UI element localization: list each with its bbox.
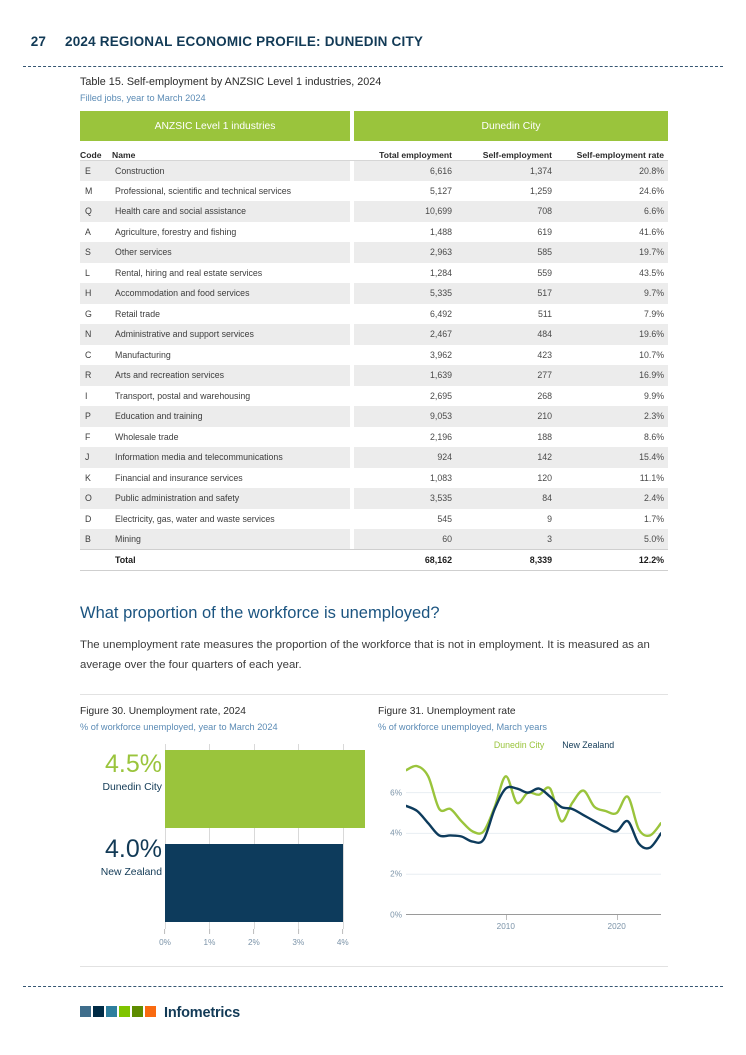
page-title: 2024 REGIONAL ECONOMIC PROFILE: DUNEDIN … bbox=[65, 34, 423, 49]
table-row: JInformation media and telecommunication… bbox=[80, 447, 668, 468]
logo-square-2 bbox=[93, 1006, 104, 1017]
cell-code: K bbox=[80, 468, 112, 489]
cell-name: Information media and telecommunications bbox=[112, 447, 350, 468]
cell-total-employment: 1,284 bbox=[354, 263, 456, 284]
cell-self-employment-rate: 9.7% bbox=[556, 283, 668, 304]
bar-value-dunedin: 4.5% bbox=[80, 752, 162, 777]
logo-square-4 bbox=[119, 1006, 130, 1017]
cell-self-employment: 559 bbox=[456, 263, 556, 284]
cell-name: Public administration and safety bbox=[112, 488, 350, 509]
cell-total-employment: 924 bbox=[354, 447, 456, 468]
table-row: MProfessional, scientific and technical … bbox=[80, 181, 668, 202]
self-employment-table: ANZSIC Level 1 industries Dunedin City C… bbox=[80, 111, 668, 571]
table-row: LRental, hiring and real estate services… bbox=[80, 263, 668, 284]
figure-31-chart: Dunedin City New Zealand 0%2%4%6%2010202… bbox=[378, 740, 668, 950]
cell-code: I bbox=[80, 386, 112, 407]
bar-label-newzealand: New Zealand bbox=[80, 867, 162, 878]
cell-name: Accommodation and food services bbox=[112, 283, 350, 304]
cell-name: Professional, scientific and technical s… bbox=[112, 181, 350, 202]
bar-chart-labels: 4.5% Dunedin City 4.0% New Zealand bbox=[80, 744, 162, 878]
figure-31-subtitle: % of workforce unemployed, March years bbox=[378, 722, 668, 732]
cell-code: S bbox=[80, 242, 112, 263]
line-chart-ytick-label: 2% bbox=[378, 870, 402, 879]
cell-code: R bbox=[80, 365, 112, 386]
line-chart-ytick-label: 4% bbox=[378, 829, 402, 838]
cell-self-employment-rate: 10.7% bbox=[556, 345, 668, 366]
cell-code: F bbox=[80, 427, 112, 448]
table-row: KFinancial and insurance services1,08312… bbox=[80, 468, 668, 489]
cell-self-employment-rate: 9.9% bbox=[556, 386, 668, 407]
cell-total-employment: 2,196 bbox=[354, 427, 456, 448]
page-footer: Infometrics bbox=[80, 1004, 240, 1022]
cell-self-employment: 585 bbox=[456, 242, 556, 263]
cell-self-employment-rate: 7.9% bbox=[556, 304, 668, 325]
table-row: AAgriculture, forestry and fishing1,4886… bbox=[80, 222, 668, 243]
table-row: SOther services2,96358519.7% bbox=[80, 242, 668, 263]
line-chart-xtick bbox=[506, 915, 507, 920]
figure-31-title: Figure 31. Unemployment rate bbox=[378, 706, 668, 717]
cell-self-employment: 511 bbox=[456, 304, 556, 325]
cell-name: Administrative and support services bbox=[112, 324, 350, 345]
figure-30-chart: 4.5% Dunedin City 4.0% New Zealand 0%1%2… bbox=[80, 744, 365, 954]
cell-self-employment-rate: 8.6% bbox=[556, 427, 668, 448]
line-series-new-zealand bbox=[406, 787, 661, 849]
cell-self-employment: 423 bbox=[456, 345, 556, 366]
cell-self-employment: 142 bbox=[456, 447, 556, 468]
cell-self-employment: 619 bbox=[456, 222, 556, 243]
cell-code: J bbox=[80, 447, 112, 468]
cell-self-employment: 1,374 bbox=[456, 160, 556, 181]
bar-chart-xtick-label: 1% bbox=[204, 938, 216, 947]
cell-total-employment: 1,639 bbox=[354, 365, 456, 386]
cell-total-employment: 2,695 bbox=[354, 386, 456, 407]
cell-self-employment-rate: 2.4% bbox=[556, 488, 668, 509]
bar-chart-plot bbox=[165, 744, 365, 929]
cell-total-employment: 3,535 bbox=[354, 488, 456, 509]
header-divider bbox=[23, 66, 723, 67]
cell-code: L bbox=[80, 263, 112, 284]
cell-self-employment: 1,259 bbox=[456, 181, 556, 202]
cell-self-employment-rate: 20.8% bbox=[556, 160, 668, 181]
bar-chart-xtick: 3% bbox=[292, 929, 304, 947]
cell-self-employment-rate: 15.4% bbox=[556, 447, 668, 468]
table-row: QHealth care and social assistance10,699… bbox=[80, 201, 668, 222]
cell-self-employment-rate: 19.7% bbox=[556, 242, 668, 263]
line-chart-xtick-label: 2020 bbox=[608, 922, 626, 931]
cell-code: A bbox=[80, 222, 112, 243]
total-cell-code bbox=[80, 550, 112, 571]
cell-code: M bbox=[80, 181, 112, 202]
cell-self-employment-rate: 6.6% bbox=[556, 201, 668, 222]
cell-code: H bbox=[80, 283, 112, 304]
footer-divider bbox=[23, 986, 723, 987]
table-row: CManufacturing3,96242310.7% bbox=[80, 345, 668, 366]
infometrics-logo-icon bbox=[80, 1004, 158, 1022]
cell-name: Arts and recreation services bbox=[112, 365, 350, 386]
cell-total-employment: 5,335 bbox=[354, 283, 456, 304]
cell-self-employment: 708 bbox=[456, 201, 556, 222]
table-row: RArts and recreation services1,63927716.… bbox=[80, 365, 668, 386]
cell-self-employment-rate: 2.3% bbox=[556, 406, 668, 427]
bar-dunedin-city bbox=[165, 750, 365, 828]
cell-total-employment: 10,699 bbox=[354, 201, 456, 222]
logo-square-1 bbox=[80, 1006, 91, 1017]
table-column-header-row: Code Name Total employment Self-employme… bbox=[80, 141, 668, 160]
cell-code: Q bbox=[80, 201, 112, 222]
table-15-section: Table 15. Self-employment by ANZSIC Leve… bbox=[80, 76, 668, 571]
cell-name: Other services bbox=[112, 242, 350, 263]
bar-new-zealand bbox=[165, 844, 343, 922]
logo-square-6 bbox=[145, 1006, 156, 1017]
cell-self-employment-rate: 43.5% bbox=[556, 263, 668, 284]
figure-30: Figure 30. Unemployment rate, 2024 % of … bbox=[80, 706, 365, 954]
column-header-total-employment: Total employment bbox=[354, 141, 456, 160]
cell-self-employment: 120 bbox=[456, 468, 556, 489]
line-chart-ytick-label: 6% bbox=[378, 788, 402, 797]
cell-self-employment: 9 bbox=[456, 509, 556, 530]
table-group-header-row: ANZSIC Level 1 industries Dunedin City bbox=[80, 111, 668, 141]
bar-chart-xtick: 2% bbox=[248, 929, 260, 947]
cell-self-employment-rate: 24.6% bbox=[556, 181, 668, 202]
cell-self-employment-rate: 1.7% bbox=[556, 509, 668, 530]
table-row: PEducation and training9,0532102.3% bbox=[80, 406, 668, 427]
cell-self-employment-rate: 41.6% bbox=[556, 222, 668, 243]
figure-30-subtitle: % of workforce unemployed, year to March… bbox=[80, 722, 365, 732]
cell-total-employment: 6,492 bbox=[354, 304, 456, 325]
total-cell-total-employment: 68,162 bbox=[354, 550, 456, 571]
cell-code: B bbox=[80, 529, 112, 550]
brand-name: Infometrics bbox=[164, 1005, 240, 1021]
line-chart-svg bbox=[406, 760, 661, 915]
cell-name: Agriculture, forestry and fishing bbox=[112, 222, 350, 243]
bar-chart-xtick: 0% bbox=[159, 929, 171, 947]
cell-code: N bbox=[80, 324, 112, 345]
cell-total-employment: 2,963 bbox=[354, 242, 456, 263]
table-row: FWholesale trade2,1961888.6% bbox=[80, 427, 668, 448]
bar-chart-x-axis: 0%1%2%3%4% bbox=[165, 929, 365, 953]
table-title: Table 15. Self-employment by ANZSIC Leve… bbox=[80, 76, 668, 88]
cell-name: Retail trade bbox=[112, 304, 350, 325]
cell-self-employment-rate: 11.1% bbox=[556, 468, 668, 489]
table-row: OPublic administration and safety3,53584… bbox=[80, 488, 668, 509]
cell-name: Manufacturing bbox=[112, 345, 350, 366]
cell-code: O bbox=[80, 488, 112, 509]
page-header: 27 2024 REGIONAL ECONOMIC PROFILE: DUNED… bbox=[0, 34, 746, 49]
figure-31: Figure 31. Unemployment rate % of workfo… bbox=[378, 706, 668, 950]
legend-item-dunedin: Dunedin City bbox=[494, 740, 544, 750]
table-row: EConstruction6,6161,37420.8% bbox=[80, 160, 668, 181]
table-body: EConstruction6,6161,37420.8%MProfessiona… bbox=[80, 160, 668, 570]
line-chart-ytick-label: 0% bbox=[378, 911, 402, 920]
cell-name: Rental, hiring and real estate services bbox=[112, 263, 350, 284]
table-row: HAccommodation and food services5,335517… bbox=[80, 283, 668, 304]
column-header-name: Name bbox=[112, 141, 350, 160]
cell-name: Education and training bbox=[112, 406, 350, 427]
cell-total-employment: 9,053 bbox=[354, 406, 456, 427]
cell-self-employment: 268 bbox=[456, 386, 556, 407]
cell-self-employment: 210 bbox=[456, 406, 556, 427]
table-row: ITransport, postal and warehousing2,6952… bbox=[80, 386, 668, 407]
bar-chart-xtick-label: 0% bbox=[159, 938, 171, 947]
cell-self-employment: 3 bbox=[456, 529, 556, 550]
document-page: 27 2024 REGIONAL ECONOMIC PROFILE: DUNED… bbox=[0, 0, 746, 1055]
group-header-dunedin: Dunedin City bbox=[354, 111, 668, 141]
bar-label-dunedin: Dunedin City bbox=[80, 782, 162, 793]
line-chart-plot bbox=[406, 760, 661, 915]
column-header-self-employment: Self-employment bbox=[456, 141, 556, 160]
cell-name: Financial and insurance services bbox=[112, 468, 350, 489]
section-heading: What proportion of the workforce is unem… bbox=[80, 604, 680, 623]
cell-total-employment: 3,962 bbox=[354, 345, 456, 366]
cell-name: Wholesale trade bbox=[112, 427, 350, 448]
table-total-row: Total68,1628,33912.2% bbox=[80, 550, 668, 571]
cell-self-employment: 188 bbox=[456, 427, 556, 448]
logo-square-3 bbox=[106, 1006, 117, 1017]
cell-self-employment: 517 bbox=[456, 283, 556, 304]
line-chart-xtick-label: 2010 bbox=[497, 922, 515, 931]
table-row: GRetail trade6,4925117.9% bbox=[80, 304, 668, 325]
total-cell-self-employment-rate: 12.2% bbox=[556, 550, 668, 571]
cell-total-employment: 60 bbox=[354, 529, 456, 550]
group-header-industries: ANZSIC Level 1 industries bbox=[80, 111, 350, 141]
cell-self-employment: 484 bbox=[456, 324, 556, 345]
total-cell-label: Total bbox=[112, 550, 350, 571]
column-header-code: Code bbox=[80, 141, 112, 160]
cell-name: Construction bbox=[112, 160, 350, 181]
cell-total-employment: 1,488 bbox=[354, 222, 456, 243]
bar-chart-xtick: 1% bbox=[204, 929, 216, 947]
bar-chart-xtick: 4% bbox=[337, 929, 349, 947]
table-row: BMining6035.0% bbox=[80, 529, 668, 550]
section-paragraph: The unemployment rate measures the propo… bbox=[80, 636, 660, 675]
cell-code: E bbox=[80, 160, 112, 181]
cell-self-employment: 277 bbox=[456, 365, 556, 386]
cell-self-employment: 84 bbox=[456, 488, 556, 509]
cell-total-employment: 1,083 bbox=[354, 468, 456, 489]
cell-total-employment: 6,616 bbox=[354, 160, 456, 181]
bar-chart-xtick-label: 2% bbox=[248, 938, 260, 947]
cell-self-employment-rate: 19.6% bbox=[556, 324, 668, 345]
cell-total-employment: 5,127 bbox=[354, 181, 456, 202]
cell-code: D bbox=[80, 509, 112, 530]
line-chart-legend: Dunedin City New Zealand bbox=[440, 740, 668, 750]
figure-30-title: Figure 30. Unemployment rate, 2024 bbox=[80, 706, 365, 717]
bar-value-newzealand: 4.0% bbox=[80, 837, 162, 862]
line-chart-xtick bbox=[617, 915, 618, 920]
bar-chart-xtick-label: 3% bbox=[292, 938, 304, 947]
table-row: DElectricity, gas, water and waste servi… bbox=[80, 509, 668, 530]
section-divider-top bbox=[80, 694, 668, 695]
cell-self-employment-rate: 16.9% bbox=[556, 365, 668, 386]
section-divider-bottom bbox=[80, 966, 668, 967]
page-number: 27 bbox=[0, 34, 46, 49]
total-cell-self-employment: 8,339 bbox=[456, 550, 556, 571]
cell-name: Transport, postal and warehousing bbox=[112, 386, 350, 407]
column-header-self-employment-rate: Self-employment rate bbox=[556, 141, 668, 160]
cell-code: G bbox=[80, 304, 112, 325]
cell-code: C bbox=[80, 345, 112, 366]
cell-total-employment: 545 bbox=[354, 509, 456, 530]
cell-self-employment-rate: 5.0% bbox=[556, 529, 668, 550]
cell-name: Health care and social assistance bbox=[112, 201, 350, 222]
legend-item-newzealand: New Zealand bbox=[562, 740, 614, 750]
logo-square-5 bbox=[132, 1006, 143, 1017]
table-subtitle: Filled jobs, year to March 2024 bbox=[80, 93, 668, 103]
bar-chart-xtick-label: 4% bbox=[337, 938, 349, 947]
cell-code: P bbox=[80, 406, 112, 427]
cell-name: Electricity, gas, water and waste servic… bbox=[112, 509, 350, 530]
table-row: NAdministrative and support services2,46… bbox=[80, 324, 668, 345]
cell-name: Mining bbox=[112, 529, 350, 550]
cell-total-employment: 2,467 bbox=[354, 324, 456, 345]
